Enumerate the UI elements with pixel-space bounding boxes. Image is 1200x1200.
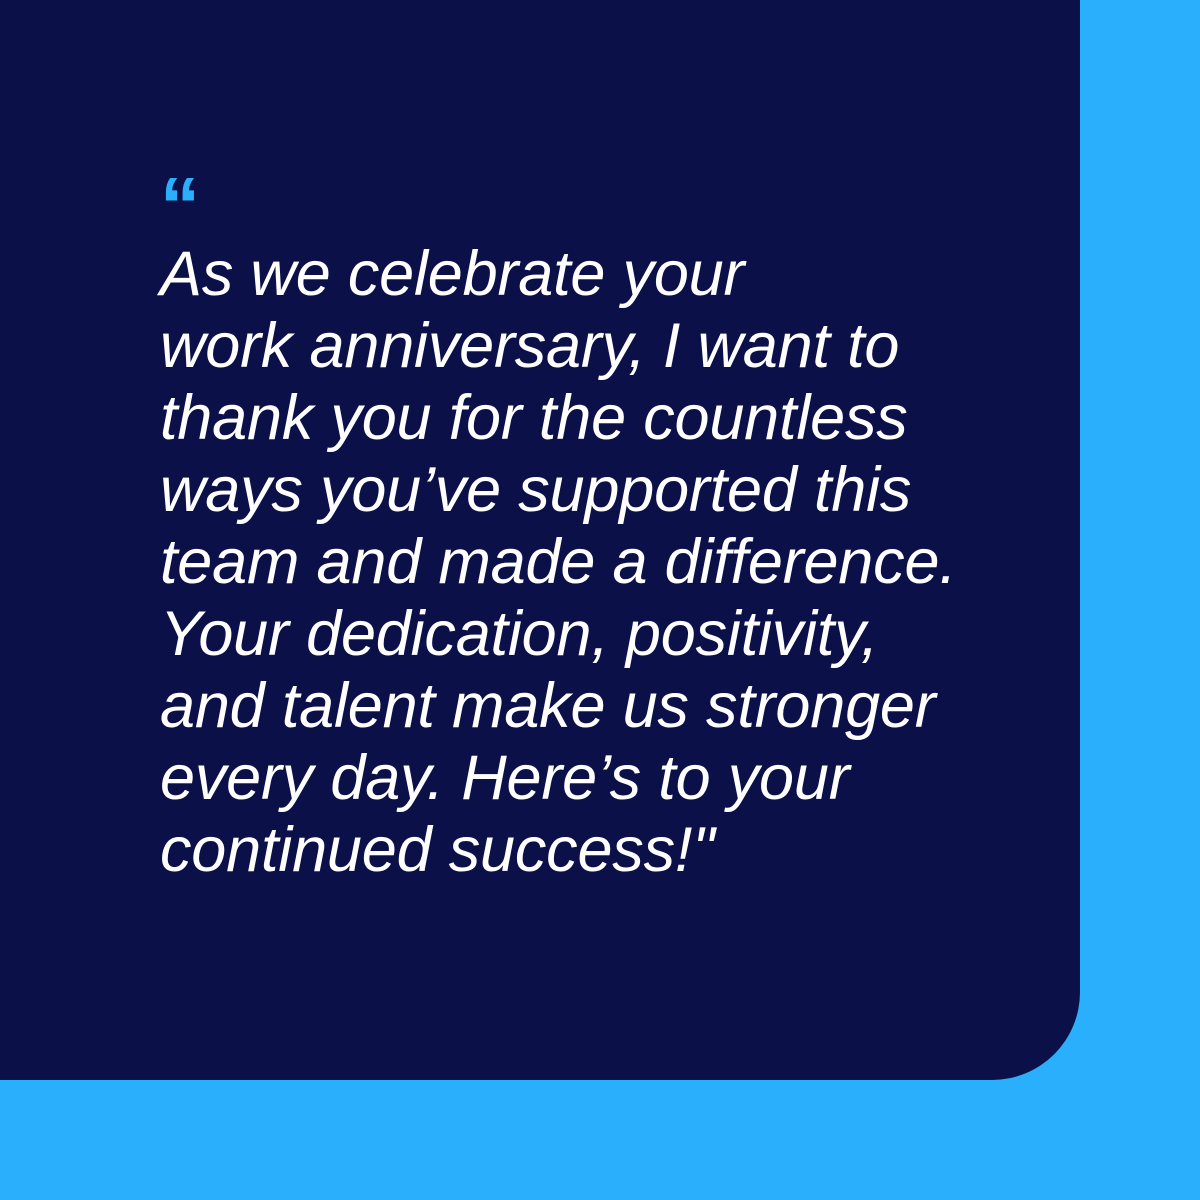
quote-line-5: team and made a difference. xyxy=(160,526,970,598)
quote-block: “As we celebrate yourwork anniversary, I… xyxy=(160,166,970,886)
quote-card: “As we celebrate yourwork anniversary, I… xyxy=(0,0,1080,1080)
quote-text: “As we celebrate yourwork anniversary, I… xyxy=(160,166,970,886)
quote-line-6: Your dedication, positivity, xyxy=(160,598,970,670)
quote-line-9: continued success!" xyxy=(160,814,970,886)
quote-line-7: and talent make us stronger xyxy=(160,670,970,742)
quote-line-2: work anniversary, I want to xyxy=(160,310,970,382)
quote-line-3: thank you for the countless xyxy=(160,382,970,454)
quote-line-4: ways you’ve supported this xyxy=(160,454,970,526)
quote-line-1: As we celebrate your xyxy=(160,238,970,310)
quote-line-8: every day. Here’s to your xyxy=(160,742,970,814)
slide-canvas: “As we celebrate yourwork anniversary, I… xyxy=(0,0,1200,1200)
